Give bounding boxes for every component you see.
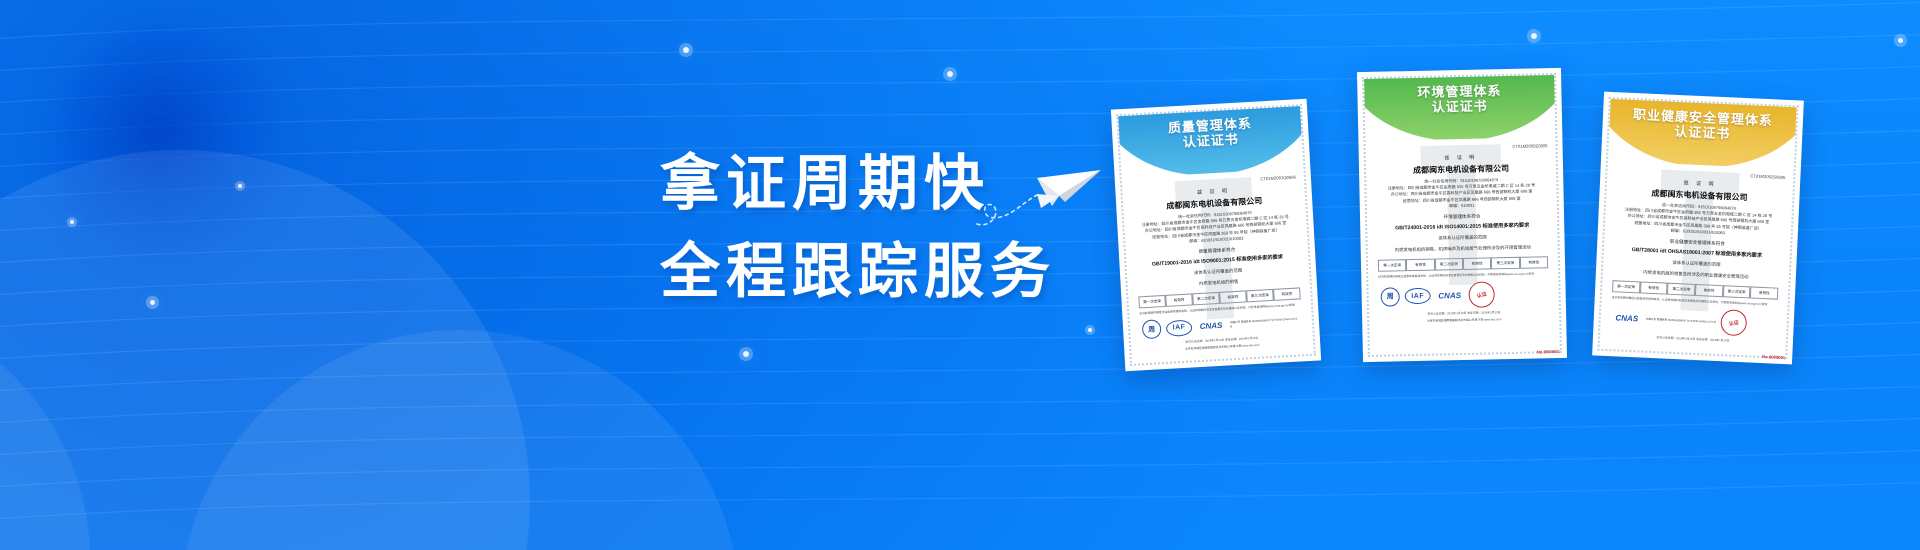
certificate-environment[interactable]: 环境管理体系 认证证书 CT01M2002E0606 兹 证 明 成都闽东电机设… (1357, 68, 1567, 362)
sparkle-dot (683, 47, 689, 53)
cert-scope-label: 该体系认证所覆盖的范围 (1375, 232, 1549, 243)
cert-logo-note: 中国认可 管理体系 MANAGEMENT SYSTEM CNAS-C174-M (1230, 318, 1300, 329)
sparkle-dot (1898, 38, 1903, 43)
cert-system-label: 环境管理体系符合 (1375, 212, 1549, 222)
sparkle-dot (947, 71, 953, 77)
cert-company: 成都闽东电机设备有限公司 (1374, 162, 1548, 177)
sparkle-dot (1531, 33, 1537, 39)
cert-no: CT01M2002E0606 (1512, 143, 1547, 149)
cert-fine-print: 证书有效期内需经过监督审核保持有效，认证有效期内如发生变更应及时通知认证机构。可… (1378, 271, 1548, 279)
cert-table-cell: 有效性 (1750, 286, 1778, 299)
hero-banner: 拿证周期快 全程跟踪服务 质量管理体系 认证证书 (0, 0, 1920, 550)
china-accreditation-icon: 周 (1142, 319, 1162, 339)
cnas-logo-icon: CNAS (1436, 288, 1464, 303)
cert-serial: No.0000001 (1762, 354, 1785, 360)
cert-table-cell: 第三次定审 (1246, 289, 1274, 302)
cert-table-cell: 第一次定审 (1138, 295, 1166, 308)
sparkle-dot (150, 300, 155, 305)
red-seal-icon: 认证 (1466, 279, 1497, 310)
cert-table-cell: 有效性 (1463, 257, 1492, 270)
sparkle-dot (70, 220, 74, 224)
cert-table-cell: 第二次定审 (1435, 258, 1464, 271)
cert-table-cell: 第三次定审 (1491, 257, 1520, 270)
red-seal-icon: 认证 (1719, 308, 1749, 338)
cert-table-cell: 第三次定审 (1723, 285, 1751, 298)
cert-table-cell: 有效性 (1640, 281, 1668, 294)
iaf-logo-icon: IAF (1405, 288, 1431, 305)
china-accreditation-icon: 周 (1380, 287, 1399, 306)
cert-table-cell: 第一次定审 (1612, 280, 1640, 293)
circle-decoration-center (0, 150, 530, 550)
circle-decoration-left (0, 300, 90, 550)
cert-table-cell: 有效性 (1520, 256, 1549, 269)
cert-statement: 兹 证 明 (1374, 152, 1548, 163)
certificate-safety[interactable]: 职业健康安全管理体系 认证证书 CT01M2002S0606 兹 证 明 成都闽… (1592, 92, 1804, 365)
sparkle-dot (743, 351, 749, 357)
sparkle-dot (1088, 328, 1092, 332)
certificate-quality[interactable]: 质量管理体系 认证证书 CT01M2001Q0606 兹 证 明 成都闽东电机设… (1111, 99, 1321, 372)
cert-table-cell: 第二次定审 (1667, 283, 1695, 296)
cert-no: CT01M2001Q0606 (1260, 174, 1296, 181)
headline-line-2: 全程跟踪服务 (660, 228, 1056, 316)
dark-glow-decoration (50, 20, 290, 270)
cert-serial: No.0000001 (1537, 349, 1560, 354)
cert-table-cell: 有效性 (1165, 293, 1193, 306)
cnas-logo-icon: CNAS (1197, 318, 1226, 334)
cert-table-cell: 有效性 (1273, 287, 1301, 300)
cert-table-cell: 有效性 (1219, 290, 1247, 303)
sparkle-dot (238, 184, 242, 188)
cert-no: CT01M2002S0606 (1750, 173, 1785, 180)
cert-standard: GB/T24001-2016 idt ISO14001:2015 标准使用多家内… (1375, 221, 1549, 232)
cert-table-cell: 有效性 (1406, 259, 1435, 272)
cert-logo-note: 中国认可 管理体系 MANAGEMENT SYSTEM CNAS-C174-M (1646, 317, 1716, 324)
iaf-logo-icon: IAF (1166, 319, 1193, 336)
paper-plane-icon (975, 150, 1105, 230)
cert-address-line: 北京市西城区城南路国家机关东路11号楼7F层 www.hac.com (1377, 316, 1551, 324)
circle-decoration-right (180, 330, 740, 550)
cnas-logo-icon: CNAS (1613, 310, 1642, 325)
cert-issue-line: 初次认证日期：2019年1月10日 发证日期：2019年1月10日 (1377, 309, 1551, 317)
cert-table-cell: 第二次定审 (1192, 292, 1220, 305)
cert-table-cell: 第一次定审 (1378, 259, 1407, 272)
certificates-group: 质量管理体系 认证证书 CT01M2001Q0606 兹 证 明 成都闽东电机设… (1118, 70, 1918, 450)
cert-scope: 内燃发电机组的销售、机房噪声及机组尾气处理所涉及的环境管理活动 (1376, 243, 1550, 254)
cert-table-cell: 有效性 (1695, 284, 1723, 297)
